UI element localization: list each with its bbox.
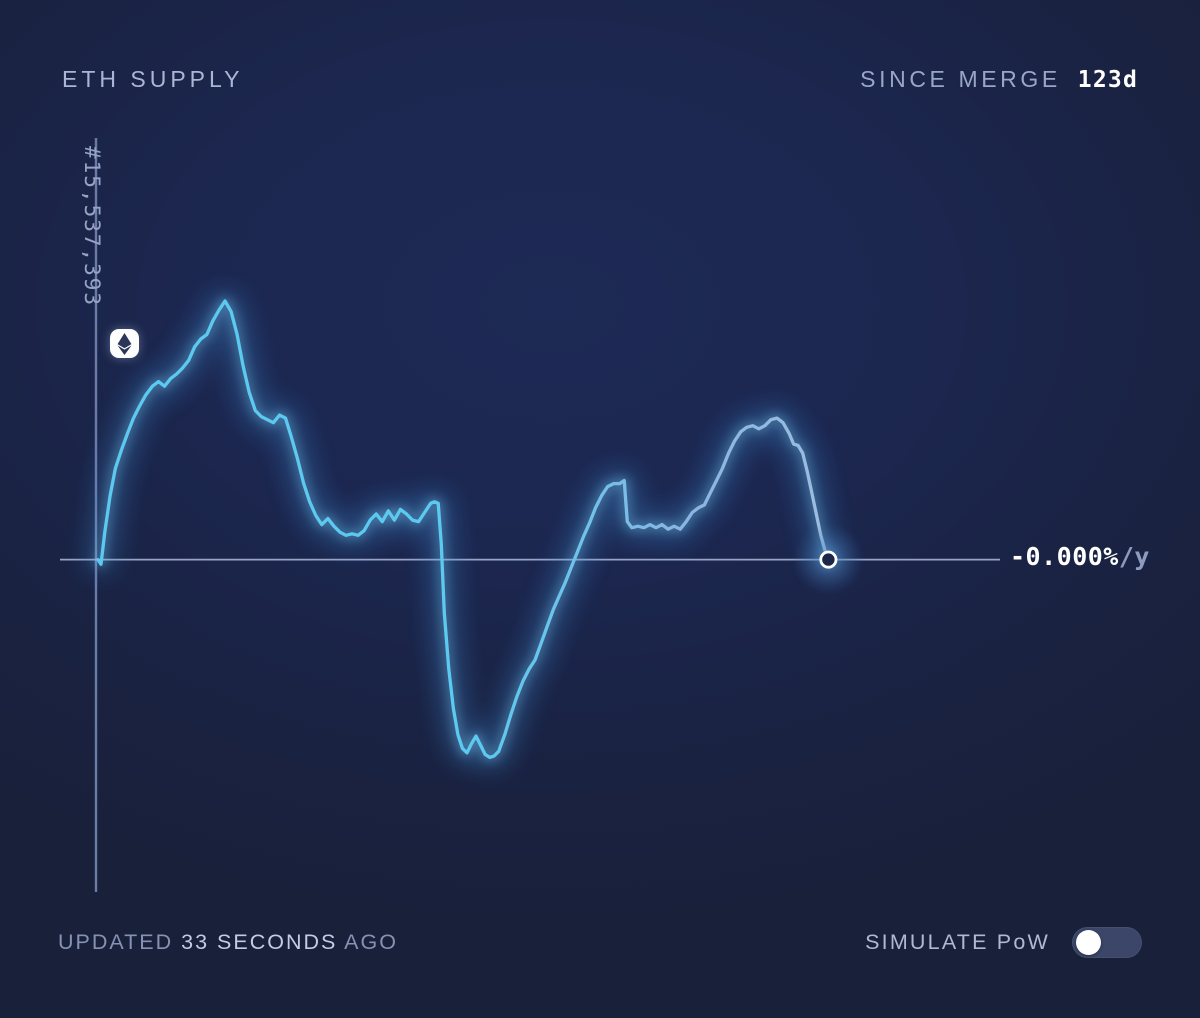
rate-unit: /y (1119, 542, 1150, 571)
series-glow (98, 301, 828, 757)
since-merge-value: 123d (1078, 67, 1138, 93)
toggle-knob (1076, 930, 1101, 955)
updated-status: UPDATED 33 SECONDS AGO (58, 930, 398, 955)
updated-prefix: UPDATED (58, 930, 173, 954)
ethereum-icon (110, 329, 139, 358)
simulate-pow-group[interactable]: SIMULATE PoW (865, 927, 1142, 958)
since-merge-label: SINCE MERGE (860, 66, 1061, 93)
rate-value: -0.000% (1010, 542, 1119, 571)
footer: UPDATED 33 SECONDS AGO SIMULATE PoW (0, 922, 1200, 962)
page-title: ETH SUPPLY (62, 66, 243, 93)
updated-suffix: AGO (344, 930, 398, 954)
supply-line-chart (0, 110, 1200, 910)
header: ETH SUPPLY SINCE MERGE 123d (0, 58, 1200, 100)
series-endpoint-marker[interactable] (792, 524, 864, 596)
supply-line-path (98, 301, 828, 757)
simulate-pow-toggle[interactable] (1072, 927, 1142, 958)
updated-value: 33 SECONDS (181, 930, 337, 954)
since-merge-group: SINCE MERGE 123d (860, 66, 1138, 93)
ethereum-diamond-glyph (117, 333, 132, 355)
chart-area[interactable]: #15,537,393 -0.000% /y (0, 110, 1200, 910)
eth-supply-widget: ETH SUPPLY SINCE MERGE 123d (0, 0, 1200, 1018)
simulate-pow-label: SIMULATE PoW (865, 930, 1050, 955)
rate-readout: -0.000% /y (1010, 542, 1150, 571)
